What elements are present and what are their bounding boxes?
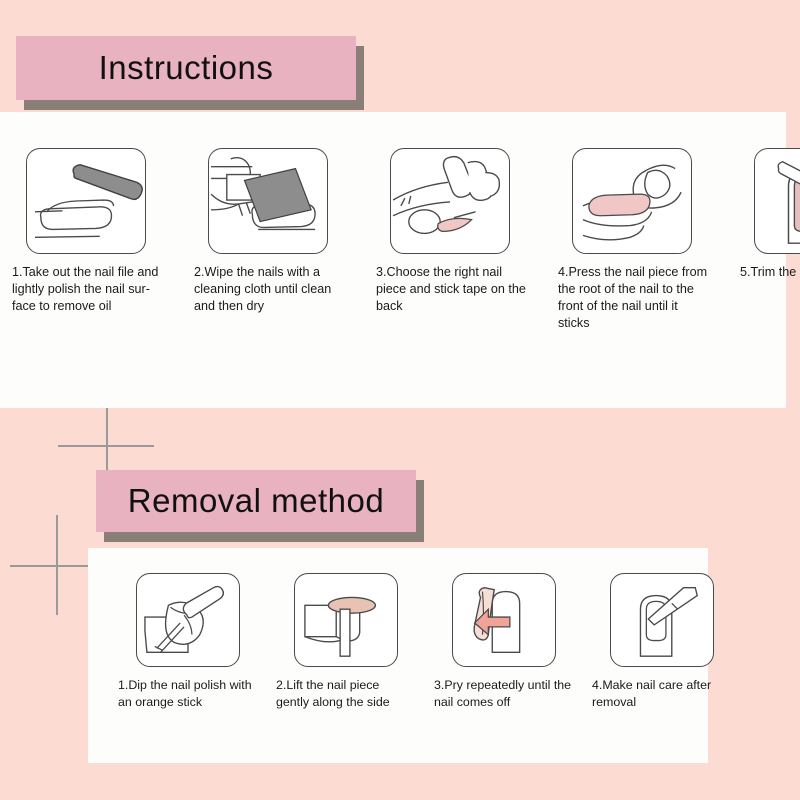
instruction-step-2-caption: 2.Wipe the nails with a cleaning cloth u… — [194, 264, 346, 315]
nail-file-polish-icon — [26, 148, 146, 254]
instruction-steps-row: 1.Take out the nail file and lightly pol… — [12, 148, 800, 332]
dip-orange-stick-icon — [136, 573, 240, 667]
instructions-heading-text: Instructions — [99, 49, 274, 87]
heading-box: Instructions — [16, 36, 356, 100]
removal-step-1: 1.Dip the nail polish with an orange sti… — [118, 573, 256, 711]
removal-heading-text: Removal method — [128, 482, 384, 520]
trim-edges-icon — [754, 148, 800, 254]
pry-nail-icon — [452, 573, 556, 667]
choose-nail-piece-icon — [390, 148, 510, 254]
nail-care-icon — [610, 573, 714, 667]
removal-step-3-caption: 3.Pry repeatedly until the nail comes of… — [434, 677, 572, 711]
removal-heading: Removal method — [96, 470, 416, 532]
removal-step-2: 2.Lift the nail piece gently along the s… — [276, 573, 414, 711]
lift-nail-piece-icon — [294, 573, 398, 667]
instruction-step-4-caption: 4.Press the nail piece from the root of … — [558, 264, 710, 332]
instructions-heading: Instructions — [16, 36, 356, 100]
removal-step-3: 3.Pry repeatedly until the nail comes of… — [434, 573, 572, 711]
instruction-step-5-caption: 5.Trim the edges — [740, 264, 800, 281]
cross-vertical-line — [56, 515, 58, 615]
instruction-step-1-caption: 1.Take out the nail file and lightly pol… — [12, 264, 164, 315]
removal-step-4-caption: 4.Make nail care after removal — [592, 677, 730, 711]
instruction-step-3-caption: 3.Choose the right nail piece and stick … — [376, 264, 528, 315]
heading-box: Removal method — [96, 470, 416, 532]
removal-step-2-caption: 2.Lift the nail piece gently along the s… — [276, 677, 414, 711]
instruction-step-5: 5.Trim the edges — [740, 148, 800, 332]
cross-horizontal-line — [58, 445, 154, 447]
cleaning-cloth-icon — [208, 148, 328, 254]
instruction-step-3: 3.Choose the right nail piece and stick … — [376, 148, 528, 332]
instruction-step-4: 4.Press the nail piece from the root of … — [558, 148, 710, 332]
removal-step-4: 4.Make nail care after removal — [592, 573, 730, 711]
removal-step-1-caption: 1.Dip the nail polish with an orange sti… — [118, 677, 256, 711]
instruction-step-1: 1.Take out the nail file and lightly pol… — [12, 148, 164, 332]
removal-steps-row: 1.Dip the nail polish with an orange sti… — [118, 573, 730, 711]
press-nail-piece-icon — [572, 148, 692, 254]
instruction-step-2: 2.Wipe the nails with a cleaning cloth u… — [194, 148, 346, 332]
